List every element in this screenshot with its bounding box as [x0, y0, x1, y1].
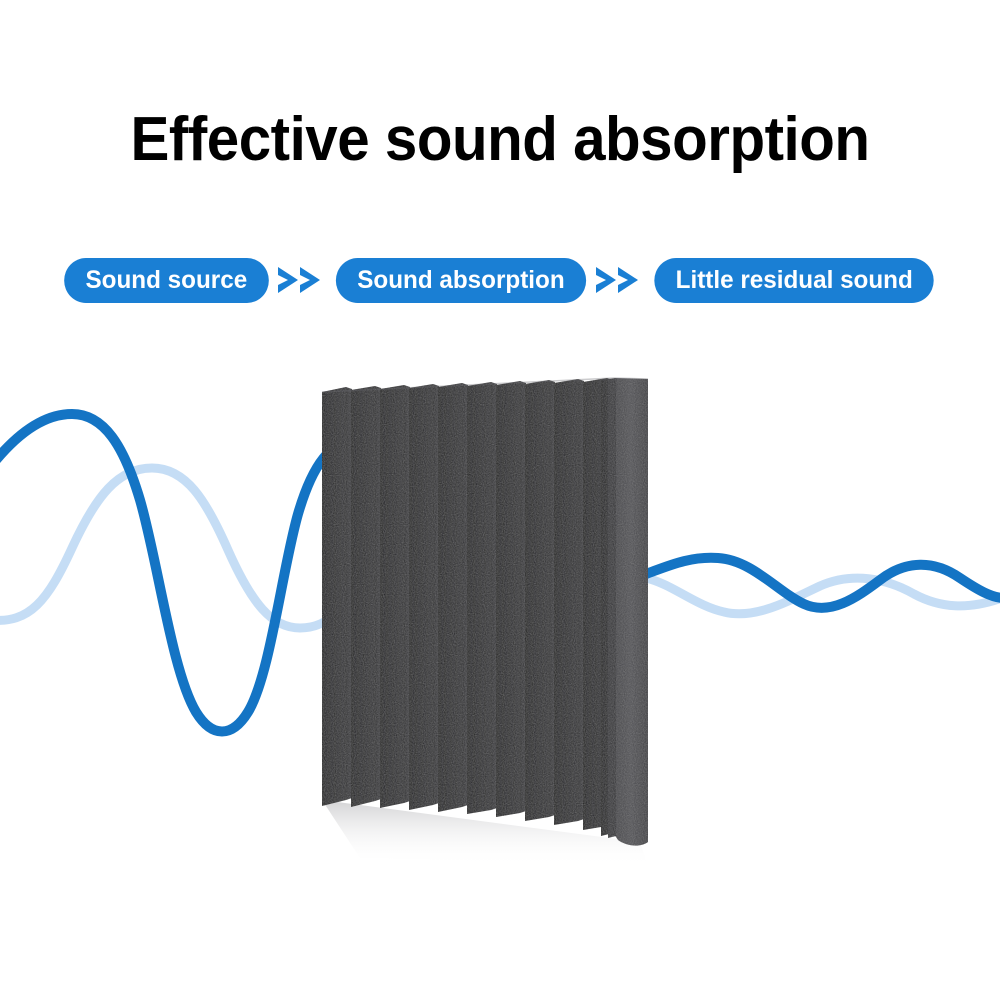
residual-wave-primary: [646, 558, 1000, 608]
residual-wave-secondary: [646, 578, 1000, 614]
flow-step-sound-absorption[interactable]: Sound absorption: [336, 258, 586, 303]
flow-step-sound-source[interactable]: Sound source: [65, 258, 269, 303]
panel-top-edge: [322, 378, 648, 392]
promo-graphic: Effective sound absorption Sound source …: [0, 0, 1000, 1000]
page-title: Effective sound absorption: [30, 104, 970, 176]
double-chevron-right-icon: [272, 258, 332, 303]
foam-wedges: [322, 378, 648, 846]
double-chevron-right-icon-2: [590, 258, 650, 303]
process-flow: Sound source Sound absorption Little res…: [0, 256, 1000, 304]
incoming-wave-secondary: [0, 468, 580, 628]
panel-shadow: [322, 800, 648, 866]
flow-step-little-residual-sound[interactable]: Little residual sound: [654, 258, 934, 303]
incoming-wave-primary: [0, 414, 500, 732]
